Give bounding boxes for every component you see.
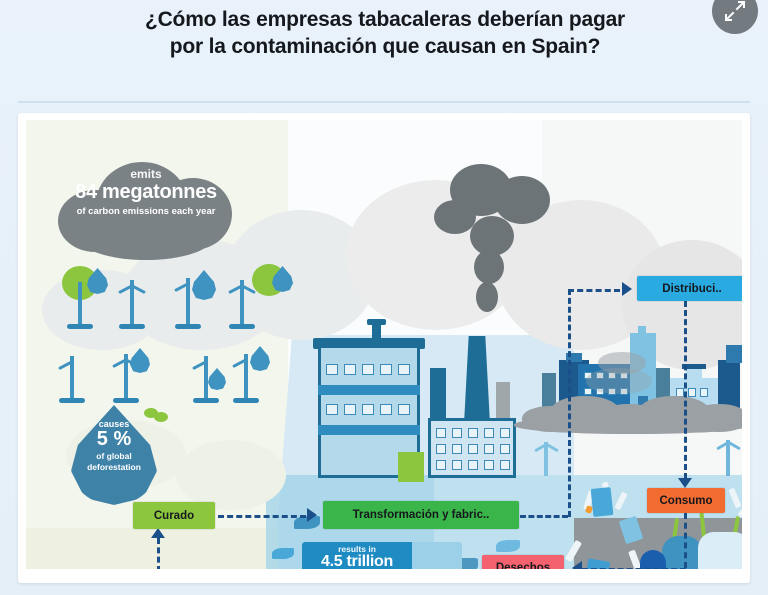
building-window <box>344 404 356 415</box>
plastic-bag-debris <box>698 532 742 569</box>
stage-label-distribucion[interactable]: Distribuci.. <box>637 276 742 301</box>
city-building-cap <box>686 368 702 380</box>
flow-line-transformacion-up <box>568 289 571 517</box>
emissions-label-prefix: emits <box>66 168 226 181</box>
fish <box>272 548 294 559</box>
building-window <box>380 404 392 415</box>
factory-door <box>398 452 424 482</box>
stage-label-curado[interactable]: Curado <box>133 502 215 529</box>
building-window <box>452 444 462 454</box>
building-window <box>344 364 356 375</box>
building-window <box>398 404 410 415</box>
tree-base <box>233 398 259 403</box>
stage-label-transformacion[interactable]: Transformación y fabric.. <box>323 501 519 529</box>
factory-floor-band <box>318 385 420 395</box>
page-root: ¿Cómo las empresas tabacaleras deberían … <box>0 0 768 595</box>
emissions-callout: emits 84 megatonnes of carbon emissions … <box>66 168 226 217</box>
infographic-scene: emits 84 megatonnes of carbon emissions … <box>26 120 742 569</box>
stage-label-consumo[interactable]: Consumo <box>647 488 725 513</box>
flow-line-to-distribucion <box>568 289 620 292</box>
tree-trunk <box>78 282 82 326</box>
header: ¿Cómo las empresas tabacaleras deberían … <box>0 0 768 100</box>
flow-line-to-desechos <box>582 568 686 569</box>
building-window <box>452 460 462 470</box>
building-window <box>468 428 478 438</box>
building-window <box>688 388 696 397</box>
building-window <box>468 460 478 470</box>
building-window <box>380 364 392 375</box>
flow-arrow-up <box>151 528 165 538</box>
tree-base <box>113 398 139 403</box>
header-divider <box>18 101 750 103</box>
building-window <box>398 364 410 375</box>
flow-line-transformacion-right <box>520 515 568 518</box>
flow-arrow-right <box>622 282 632 296</box>
building-window <box>500 428 510 438</box>
tree-base <box>67 324 93 329</box>
building-window <box>326 364 338 375</box>
deforestation-callout: causes 5 % of global deforestation <box>71 420 157 472</box>
emissions-label-suffix: of carbon emissions each year <box>66 206 226 218</box>
building-window <box>326 404 338 415</box>
building-window <box>362 404 374 415</box>
building-window <box>484 444 494 454</box>
flow-line-cultivo-curado <box>157 538 160 569</box>
building-window <box>468 444 478 454</box>
flow-line-distribucion-consumo <box>684 301 687 479</box>
building-window <box>436 428 446 438</box>
cigarette-butts-stat: results in 4.5 trillion cigarettes butts… <box>302 545 412 569</box>
plastic-bag-debris <box>640 550 666 569</box>
tree-base <box>59 398 85 403</box>
building-window <box>700 388 708 397</box>
building-window <box>500 444 510 454</box>
cigarette-pack <box>591 487 614 517</box>
plastic-bag-debris <box>662 536 702 569</box>
flow-arrow-right <box>307 508 317 522</box>
city-tower-antenna <box>638 326 646 335</box>
butts-stat-value: 4.5 trillion <box>302 554 412 569</box>
factory-floor-band <box>318 425 420 435</box>
collapse-diagonal-arrows-icon[interactable] <box>712 0 758 34</box>
factory-smokestack <box>430 368 446 424</box>
building-window <box>452 428 462 438</box>
fish <box>496 540 520 552</box>
building-window <box>484 428 494 438</box>
building-window <box>484 460 494 470</box>
tree-base <box>229 324 255 329</box>
butts-stat-prefix: results in <box>302 545 412 554</box>
stage-label-desechos[interactable]: Desechos <box>482 555 564 569</box>
building-window <box>362 364 374 375</box>
building-window <box>584 388 592 395</box>
building-window <box>436 444 446 454</box>
deforestation-label-suffix: of global deforestation <box>71 451 157 471</box>
tree-base <box>193 398 219 403</box>
turbine-mast <box>726 440 730 476</box>
emissions-value: 84 megatonnes <box>66 182 226 203</box>
tree-base <box>119 324 145 329</box>
flow-line-consumo-down <box>684 513 687 568</box>
background-cloud <box>176 440 286 510</box>
building-window <box>436 460 446 470</box>
flow-line-curado-transformacion <box>218 515 306 518</box>
flow-arrow-down <box>678 478 692 488</box>
flow-arrow-left <box>572 561 582 569</box>
tree-base <box>175 324 201 329</box>
page-title: ¿Cómo las empresas tabacaleras deberían … <box>130 6 640 60</box>
infographic-card: emits 84 megatonnes of carbon emissions … <box>18 113 750 583</box>
building-window <box>500 460 510 470</box>
deforestation-value: 5 % <box>71 429 157 450</box>
city-building <box>726 345 742 363</box>
